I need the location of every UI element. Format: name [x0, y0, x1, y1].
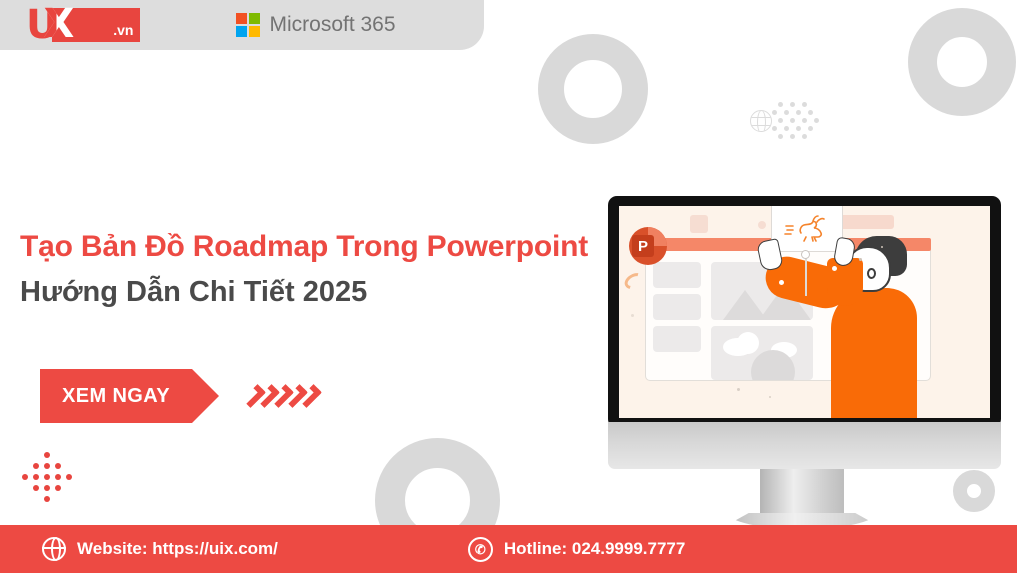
monitor-screen: P — [619, 206, 990, 418]
microsoft-365-logo: Microsoft 365 — [236, 13, 395, 37]
chevron-arrows — [248, 385, 316, 407]
decor-dot — [55, 485, 61, 491]
decor-dot — [802, 134, 807, 139]
decor-dot — [790, 102, 795, 107]
decor-dot — [44, 452, 50, 458]
cuff-dot-right — [832, 266, 837, 271]
logo-bar: U X X .vn Microsoft 365 — [0, 0, 484, 50]
decor-dot-pink — [758, 221, 766, 229]
decor-dot — [808, 110, 813, 115]
decorative-ring-top-right — [908, 8, 1016, 116]
decor-dot — [802, 118, 807, 123]
headline-line-1: Tạo Bản Đồ Roadmap Trong Powerpoint — [20, 228, 620, 266]
xem-ngay-button[interactable]: XEM NGAY — [40, 369, 192, 423]
decor-dot — [44, 496, 50, 502]
cuff-dot-left — [779, 280, 784, 285]
hotline-label: Hotline: 024.9999.7777 — [504, 539, 685, 559]
microsoft-365-label: Microsoft 365 — [269, 13, 395, 37]
monitor-stand-neck — [760, 469, 844, 519]
microsoft-squares-icon — [236, 13, 260, 37]
monitor-bezel: P — [608, 196, 1001, 428]
slide-placeholder-3 — [653, 326, 701, 352]
decorative-dot-grid-top — [750, 100, 822, 140]
decor-dot — [784, 110, 789, 115]
decor-dot — [22, 474, 28, 480]
headline-block: Tạo Bản Đồ Roadmap Trong Powerpoint Hướn… — [20, 228, 620, 312]
decor-dot — [796, 110, 801, 115]
decor-dot — [814, 118, 819, 123]
decor-dot — [796, 126, 801, 131]
decor-dot — [772, 126, 777, 131]
decor-dot — [66, 474, 72, 480]
phone-icon: ✆ — [468, 537, 493, 562]
powerpoint-icon: P — [629, 227, 667, 265]
decor-squiggle — [622, 270, 646, 292]
decorative-ring-top-left — [538, 34, 648, 144]
decor-dot — [778, 118, 783, 123]
monitor-chin — [608, 422, 1001, 469]
decor-dot — [808, 126, 813, 131]
decor-dot — [44, 485, 50, 491]
decor-dot — [55, 474, 61, 480]
globe-icon — [42, 537, 66, 561]
decor-dot — [44, 474, 50, 480]
decor-dot — [44, 463, 50, 469]
decor-dot — [778, 102, 783, 107]
decor-dot — [778, 134, 783, 139]
promo-banner: U X X .vn Microsoft 365 Tạo Bản Đồ Roadm… — [0, 0, 1017, 573]
rabbit-illustration-icon — [784, 214, 832, 244]
decor-dot — [790, 134, 795, 139]
decor-bar-pink — [840, 215, 894, 229]
decor-dot — [33, 474, 39, 480]
person-torso — [831, 288, 917, 418]
slide-placeholder-1 — [653, 262, 701, 288]
decorative-dot-diamond-red — [22, 452, 80, 500]
decor-dot — [55, 463, 61, 469]
uix-logo[interactable]: U X X .vn — [26, 8, 140, 42]
decor-dot — [790, 118, 795, 123]
decor-dot — [33, 485, 39, 491]
person-ear — [867, 268, 876, 279]
imac-illustration: P — [608, 196, 1001, 446]
slide-image-landscape — [711, 326, 813, 380]
website-info[interactable]: Website: https://uix.com/ — [42, 537, 278, 561]
cta-label: XEM NGAY — [62, 385, 170, 408]
cta-row: XEM NGAY — [40, 369, 316, 423]
headline-line-2: Hướng Dẫn Chi Tiết 2025 — [20, 274, 620, 311]
board-knob — [801, 250, 810, 259]
decor-square-pink — [690, 215, 708, 233]
logo-red-block: X X .vn — [52, 8, 140, 42]
decor-dot — [33, 463, 39, 469]
decor-dot — [802, 102, 807, 107]
slide-placeholder-2 — [653, 294, 701, 320]
cta-arrow-shape — [192, 369, 219, 423]
decor-dot — [784, 126, 789, 131]
decorative-ring-bottom-right — [953, 470, 995, 512]
logo-tld: .vn — [113, 22, 133, 38]
website-label: Website: https://uix.com/ — [77, 539, 278, 559]
powerpoint-badge-letter: P — [632, 235, 654, 257]
decor-dot — [772, 110, 777, 115]
footer-bar: Website: https://uix.com/ ✆ Hotline: 024… — [0, 525, 1017, 573]
hotline-info[interactable]: ✆ Hotline: 024.9999.7777 — [468, 537, 685, 562]
